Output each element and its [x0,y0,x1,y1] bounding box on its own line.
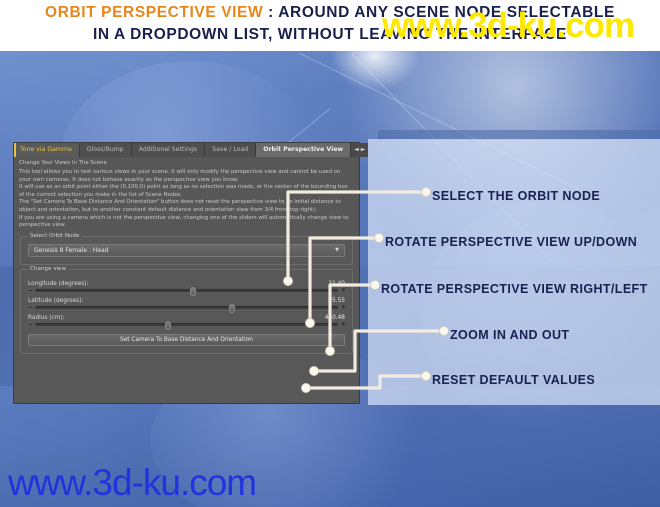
slider-radius-value[interactable]: 440.48 [325,315,345,321]
background-glow [330,51,420,91]
slider-radius-track[interactable] [35,323,338,326]
orbit-perspective-view-panel: Tone via Gamma Gloss/Bump Additional Set… [13,142,360,404]
slider-radius-label: Radius (cm): [28,315,65,321]
slider-latitude-label: Latitude (degrees): [28,298,84,304]
plus-icon[interactable]: + [341,305,345,311]
slider-radius: Radius (cm): 440.48 − + [28,315,345,328]
slider-longitude-track[interactable] [35,289,338,292]
description-paragraph: It will use as an orbit point either the… [19,184,354,199]
slider-longitude-value[interactable]: 21.40 [328,281,345,287]
slider-radius-head: Radius (cm): 440.48 [28,315,345,321]
description-paragraph: This tool allows you to test various vie… [19,169,354,184]
callout-label-select-orbit-node: SELECT THE ORBIT NODE [432,189,600,203]
tab-gloss-bump[interactable]: Gloss/Bump [80,143,132,157]
plus-icon[interactable]: + [341,322,345,328]
slider-latitude-track[interactable] [35,306,338,309]
slider-longitude-knob[interactable] [190,287,196,296]
slider-longitude-label: Longitude (degrees): [28,281,89,287]
slider-latitude-knob[interactable] [229,304,235,313]
header-separator: : [268,4,274,21]
description-paragraph: If you are using a camera which is not t… [19,215,354,230]
slider-latitude-track-wrap: − + [28,305,345,311]
change-view-group: Change view Longitude (degrees): 21.40 −… [20,269,353,354]
slider-latitude-value[interactable]: 25.55 [328,298,345,304]
minus-icon[interactable]: − [28,305,32,311]
select-orbit-node-group: Select Orbit Node Genesis 8 Female : Hea… [20,236,353,265]
tab-additional-settings[interactable]: Additional Settings [132,143,205,157]
callout-panel [368,139,660,405]
select-orbit-node-label: Select Orbit Node [27,233,82,239]
description-paragraph: The "Set Camera To Base Distance And Ori… [19,199,354,214]
tab-orbit-perspective-view[interactable]: Orbit Perspective View [256,143,351,157]
chevron-right-icon[interactable]: ► [361,147,366,153]
minus-icon[interactable]: − [28,288,32,294]
slider-radius-track-wrap: − + [28,322,345,328]
description-title: Change Your Views In The Scene [19,160,354,168]
slider-radius-knob[interactable] [165,321,171,330]
tab-scroll-controls: ◄ ► [351,143,368,157]
tab-tone-via-gamma[interactable]: Tone via Gamma [14,143,80,157]
slider-longitude-track-wrap: − + [28,288,345,294]
watermark-bottom: www.3d-ku.com [8,462,256,504]
callout-label-reset-defaults: RESET DEFAULT VALUES [432,373,595,387]
minus-icon[interactable]: − [28,322,32,328]
callout-label-rotate-up-down: ROTATE PERSPECTIVE VIEW UP/DOWN [385,235,637,249]
plus-icon[interactable]: + [341,288,345,294]
watermark-top: www.3d-ku.com [382,6,634,46]
slider-latitude-head: Latitude (degrees): 25.55 [28,298,345,304]
set-camera-to-base-distance-button[interactable]: Set Camera To Base Distance And Orientat… [28,334,345,346]
chevron-down-icon[interactable]: ▼ [335,247,339,253]
slider-longitude: Longitude (degrees): 21.40 − + [28,281,345,294]
orbit-node-value: Genesis 8 Female : Head [34,247,109,254]
slider-longitude-head: Longitude (degrees): 21.40 [28,281,345,287]
panel-description: Change Your Views In The Scene This tool… [14,157,359,232]
callout-label-rotate-right-left: ROTATE PERSPECTIVE VIEW RIGHT/LEFT [381,282,648,296]
orbit-node-dropdown[interactable]: Genesis 8 Female : Head ▼ [28,244,345,257]
slider-latitude: Latitude (degrees): 25.55 − + [28,298,345,311]
chevron-left-icon[interactable]: ◄ [354,147,359,153]
header-highlight: ORBIT PERSPECTIVE VIEW [45,4,263,21]
tab-save-load[interactable]: Save / Load [205,143,256,157]
screenshot-root: Tone via Gamma Gloss/Bump Additional Set… [0,0,660,507]
change-view-label: Change view [27,266,69,272]
callout-label-zoom: ZOOM IN AND OUT [450,328,569,342]
tab-bar: Tone via Gamma Gloss/Bump Additional Set… [14,143,359,157]
